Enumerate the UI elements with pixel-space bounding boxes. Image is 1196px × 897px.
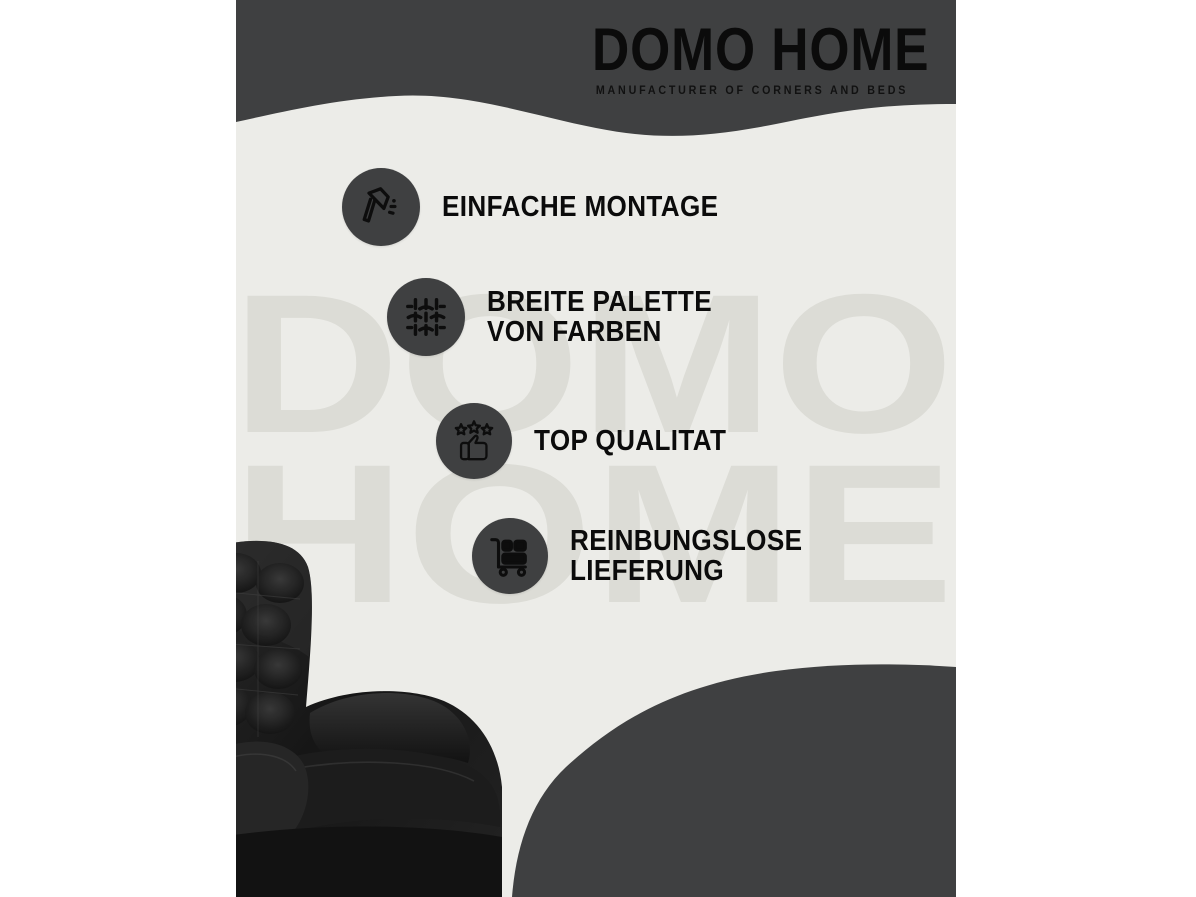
hammer-icon	[342, 168, 420, 246]
feature-item-assembly: EINFACHE MONTAGE	[342, 168, 749, 246]
hand-truck-icon	[472, 518, 548, 594]
brand-title: DOMO HOME	[592, 22, 912, 77]
brand-header: DOMO HOME MANUFACTURER OF CORNERS AND BE…	[566, 22, 938, 97]
bottom-wave-shape	[236, 597, 956, 897]
feature-label: TOP QUALITAT	[534, 426, 726, 456]
feature-label: EINFACHE MONTAGE	[442, 192, 718, 222]
feature-item-delivery: REINBUNGSLOSE LIEFERUNG	[472, 518, 828, 594]
poster-canvas: DOMO HOME	[236, 0, 956, 897]
fabric-weave-icon	[387, 278, 465, 356]
feature-item-colors: BREITE PALETTE VON FARBEN	[387, 278, 737, 356]
feature-item-quality: TOP QUALITAT	[436, 403, 748, 479]
feature-label: REINBUNGSLOSE LIEFERUNG	[570, 526, 802, 586]
thumbs-up-stars-icon	[436, 403, 512, 479]
feature-label: BREITE PALETTE VON FARBEN	[487, 287, 712, 347]
brand-subtitle: MANUFACTURER OF CORNERS AND BEDS	[579, 85, 925, 97]
